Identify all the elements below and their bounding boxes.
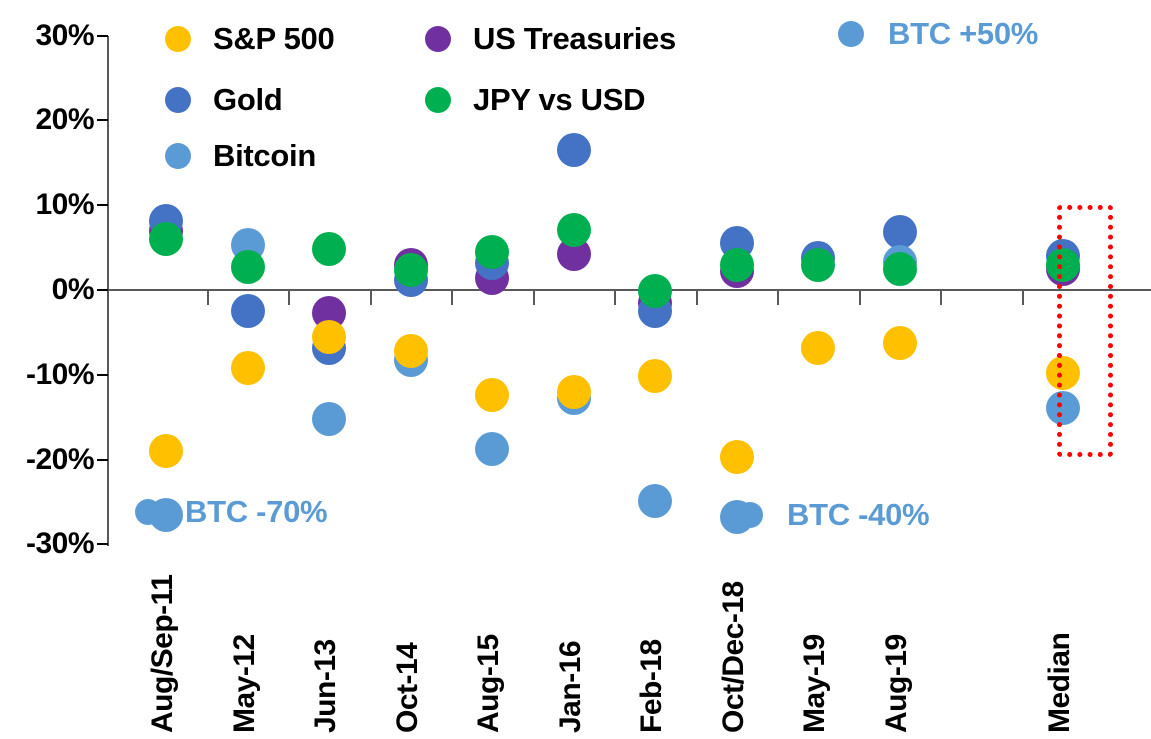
y-axis-tick-label: 20% xyxy=(35,103,94,137)
data-point xyxy=(801,331,835,365)
x-axis-tick-label: Jan-16 xyxy=(554,641,588,733)
data-point xyxy=(394,253,428,287)
annotation-btc-minus-40: BTC -40% xyxy=(737,497,929,533)
x-axis-tick-label: Median xyxy=(1043,633,1077,733)
x-axis-tick-mark xyxy=(940,291,942,305)
x-axis-tick-mark xyxy=(777,291,779,305)
legend-item-us-treasuries[interactable]: US Treasuries xyxy=(425,21,676,57)
data-point xyxy=(720,248,754,282)
y-axis-tick-label: -30% xyxy=(26,527,94,561)
y-axis-tick-mark xyxy=(97,543,108,545)
legend-swatch-icon xyxy=(165,87,191,113)
y-axis-tick-mark xyxy=(97,289,108,291)
legend-label: Bitcoin xyxy=(213,138,316,174)
data-point xyxy=(149,434,183,468)
data-point xyxy=(394,334,428,368)
y-axis-tick-label: 10% xyxy=(35,188,94,222)
data-point xyxy=(231,250,265,284)
legend-item-bitcoin[interactable]: Bitcoin xyxy=(165,138,316,174)
chart-root: 30%20%10%0%-10%-20%-30% Aug/Sep-11May-12… xyxy=(0,0,1151,739)
median-highlight-box xyxy=(1057,205,1113,457)
x-axis-tick-label: Feb-18 xyxy=(635,639,669,733)
y-axis-tick-label: 0% xyxy=(52,273,94,307)
data-point xyxy=(638,359,672,393)
data-point xyxy=(475,235,509,269)
legend-swatch-icon xyxy=(425,87,451,113)
x-axis-zero-line xyxy=(107,289,1151,291)
x-axis-tick-label: Oct/Dec-18 xyxy=(717,581,751,733)
legend-label: S&P 500 xyxy=(213,21,334,57)
y-axis-spine xyxy=(107,36,109,546)
x-axis-tick-mark xyxy=(370,291,372,305)
x-axis-tick-mark xyxy=(207,291,209,305)
x-axis-tick-label: May-19 xyxy=(798,634,832,733)
data-point xyxy=(231,351,265,385)
annotation-btc-minus-70: BTC -70% xyxy=(135,494,327,530)
bitcoin-dot-icon xyxy=(135,499,161,525)
x-axis-tick-mark xyxy=(451,291,453,305)
data-point xyxy=(883,252,917,286)
annotation-btc-minus-40-label: BTC -40% xyxy=(787,497,929,533)
annotation-btc-plus-50: BTC +50% xyxy=(838,16,1038,52)
data-point xyxy=(149,222,183,256)
data-point xyxy=(475,432,509,466)
data-point xyxy=(883,326,917,360)
bitcoin-dot-icon xyxy=(737,502,763,528)
data-point xyxy=(557,213,591,247)
x-axis-tick-mark xyxy=(533,291,535,305)
x-axis-tick-label: Aug/Sep-11 xyxy=(146,575,180,733)
legend-swatch-icon xyxy=(425,26,451,52)
data-point xyxy=(801,248,835,282)
legend-item-s-p-500[interactable]: S&P 500 xyxy=(165,21,334,57)
legend-label: JPY vs USD xyxy=(473,82,645,118)
y-axis-tick-mark xyxy=(97,204,108,206)
y-axis-tick-label: -10% xyxy=(26,358,94,392)
data-point xyxy=(312,402,346,436)
data-point xyxy=(638,274,672,308)
y-axis-tick-mark xyxy=(97,35,108,37)
legend-item-gold[interactable]: Gold xyxy=(165,82,282,118)
annotation-btc-plus-50-label: BTC +50% xyxy=(888,16,1038,52)
legend-swatch-icon xyxy=(165,26,191,52)
y-axis-tick-label: 30% xyxy=(35,19,94,53)
data-point xyxy=(312,320,346,354)
data-point xyxy=(557,133,591,167)
bitcoin-dot-icon xyxy=(838,21,864,47)
y-axis-tick-mark xyxy=(97,374,108,376)
data-point xyxy=(557,375,591,409)
x-axis-tick-mark xyxy=(1022,291,1024,305)
data-point xyxy=(312,232,346,266)
x-axis-tick-mark xyxy=(859,291,861,305)
x-axis-tick-label: Jun-13 xyxy=(309,639,343,733)
y-axis-tick-label: -20% xyxy=(26,443,94,477)
x-axis-tick-mark xyxy=(614,291,616,305)
legend-swatch-icon xyxy=(165,143,191,169)
legend-label: Gold xyxy=(213,82,282,118)
x-axis-tick-label: Aug-19 xyxy=(880,634,914,733)
y-axis-tick-mark xyxy=(97,119,108,121)
x-axis-tick-label: Oct-14 xyxy=(391,643,425,733)
x-axis-tick-label: Aug-15 xyxy=(472,634,506,733)
data-point xyxy=(720,440,754,474)
x-axis-tick-mark xyxy=(288,291,290,305)
data-point xyxy=(475,378,509,412)
data-point xyxy=(638,484,672,518)
data-point xyxy=(231,294,265,328)
annotation-btc-minus-70-label: BTC -70% xyxy=(185,494,327,530)
x-axis-tick-mark xyxy=(696,291,698,305)
x-axis-tick-label: May-12 xyxy=(228,634,262,733)
y-axis-tick-mark xyxy=(97,459,108,461)
legend-item-jpy-vs-usd[interactable]: JPY vs USD xyxy=(425,82,645,118)
legend-label: US Treasuries xyxy=(473,21,676,57)
